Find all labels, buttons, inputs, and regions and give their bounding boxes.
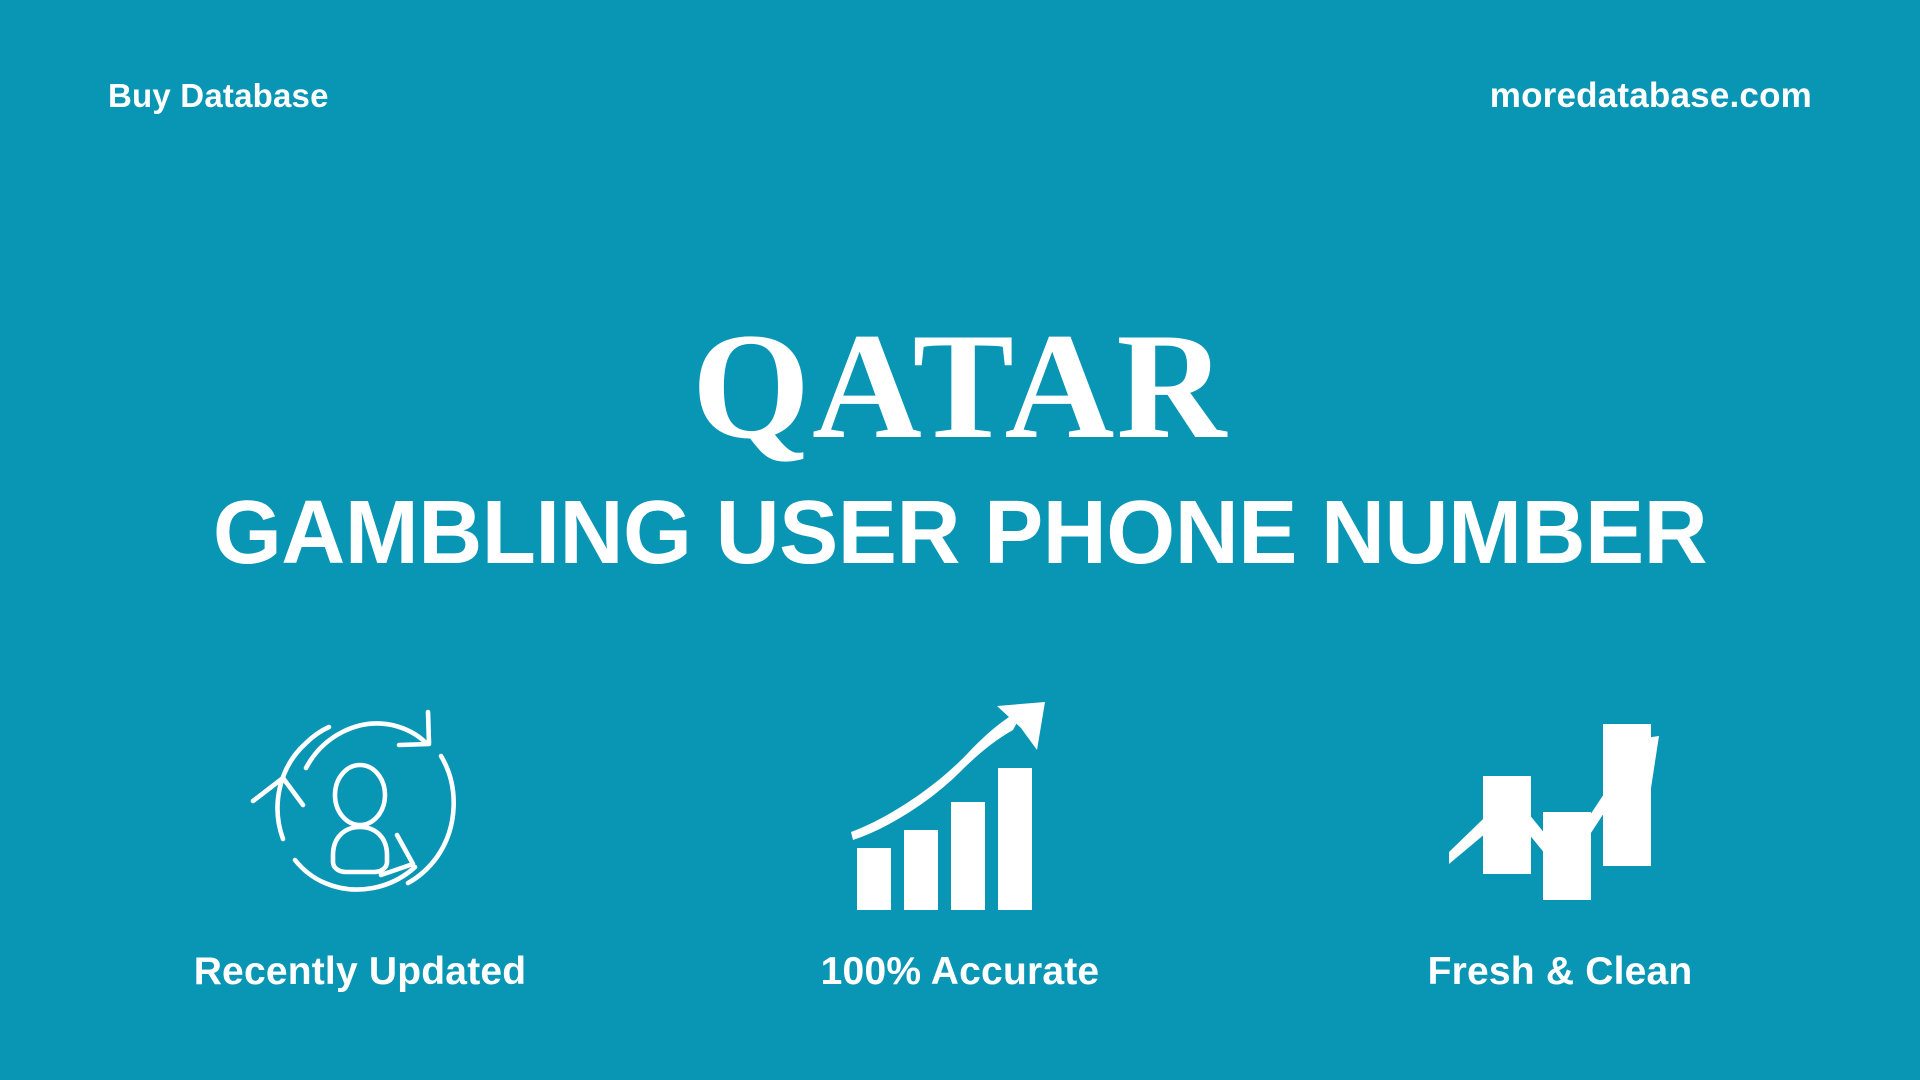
page-title: QATAR [0, 310, 1920, 462]
bar-chart-trend-arrow-icon [1445, 690, 1675, 940]
website-url-label: moredatabase.com [1490, 78, 1812, 113]
feature-label-accurate: 100% Accurate [821, 952, 1100, 991]
promo-banner: Buy Database moredatabase.com QATAR GAMB… [0, 0, 1920, 1080]
brand-left-label: Buy Database [108, 79, 329, 112]
banner-header: Buy Database moredatabase.com [0, 0, 1920, 190]
user-refresh-cycle-icon [245, 690, 475, 940]
feature-item-fresh-clean: Fresh & Clean [1320, 690, 1800, 991]
feature-item-recently-updated: Recently Updated [120, 690, 600, 991]
feature-list: Recently Updated 100 [0, 690, 1920, 1050]
growth-bar-chart-arrow-icon [845, 690, 1075, 940]
feature-item-accurate: 100% Accurate [720, 690, 1200, 991]
feature-label-recently-updated: Recently Updated [194, 952, 527, 991]
feature-label-fresh-clean: Fresh & Clean [1428, 952, 1693, 991]
hero-section: QATAR GAMBLING USER PHONE NUMBER [0, 310, 1920, 578]
page-subtitle: GAMBLING USER PHONE NUMBER [14, 488, 1905, 578]
